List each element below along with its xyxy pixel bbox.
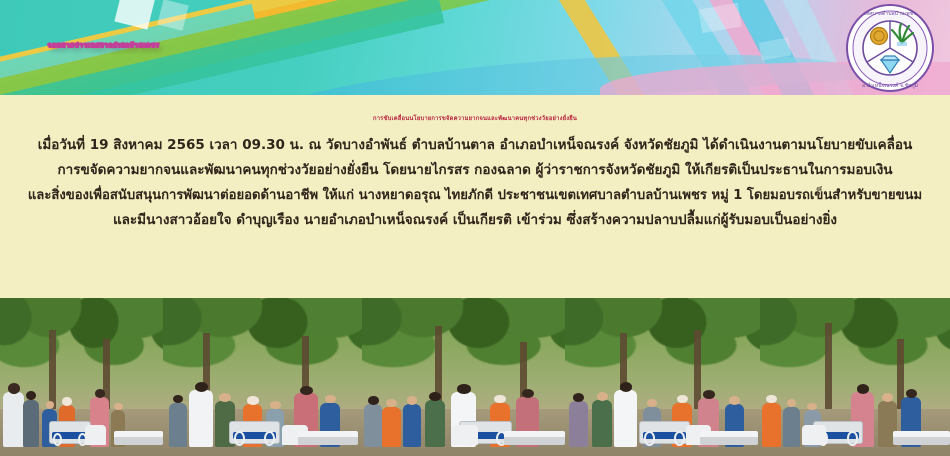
person [169, 403, 187, 447]
crowd [362, 371, 565, 447]
plastic-chair [802, 425, 827, 445]
crowd [760, 371, 950, 447]
photo-2 [163, 298, 362, 456]
paragraph-line-3: และสิ่งของเพื่อสนับสนุนการพัฒนาต่อยอดด้า… [16, 183, 934, 208]
food-cart [639, 421, 690, 444]
photo-5 [760, 298, 950, 456]
plastic-chair [451, 425, 477, 445]
banner-title: จดหมายข่าวเทศบาลตำบลบ้านเพชร [48, 14, 748, 78]
photo-strip [0, 298, 950, 456]
seal-top-label: เทศบาลตำบลบ้านเพชร [864, 10, 916, 17]
plastic-chair [85, 425, 106, 445]
decor-square-4 [759, 38, 792, 61]
person [364, 404, 382, 446]
paragraph-line-2: การขจัดความยากจนและพัฒนาคนทุกช่วงวัยอย่า… [16, 158, 934, 183]
paragraph-line-4: และมีนางสาวอ้อยใจ ดำบุญเรือง นายอำเภอบำเ… [16, 208, 934, 233]
person [614, 390, 637, 446]
person [403, 404, 421, 446]
cart-wheel [234, 431, 245, 446]
person [189, 390, 213, 446]
person [762, 403, 781, 447]
crowd [565, 371, 760, 447]
person [783, 407, 800, 446]
photo-4 [565, 298, 760, 456]
food-cart [229, 421, 281, 444]
municipality-seal-logo: เทศบาลตำบลบ้านเพชร อ.บำเหน็จณรงค์ จ.ชัยภ… [846, 4, 934, 92]
person [382, 407, 400, 446]
article-body: การขับเคลื่อนนโยบายการขจัดความยากจนและพั… [0, 95, 950, 298]
header-banner: จดหมายข่าวเทศบาลตำบลบ้านเพชร [0, 0, 950, 95]
table [114, 431, 163, 445]
person [23, 400, 39, 447]
table [298, 431, 358, 445]
person [592, 400, 612, 447]
cart-wheel [847, 431, 857, 445]
seal-bottom-label: อ.บำเหน็จณรงค์ จ.ชัยภูมิ [862, 81, 918, 89]
photo-1 [0, 298, 163, 456]
person [3, 392, 24, 447]
table [504, 431, 565, 445]
crowd [163, 371, 362, 447]
cart-wheel [644, 431, 655, 446]
cart-wheel [674, 431, 685, 446]
table [700, 431, 759, 445]
table [893, 431, 950, 445]
newsletter-page: จดหมายข่าวเทศบาลตำบลบ้านเพชร [0, 0, 950, 456]
crowd [0, 371, 163, 447]
article-paragraph: เมื่อวันที่ 19 สิงหาคม 2565 เวลา 09.30 น… [0, 123, 950, 233]
person [569, 401, 589, 446]
cart-wheel [53, 433, 62, 446]
article-headline: การขับเคลื่อนนโยบายการขจัดความยากจนและพั… [0, 95, 950, 123]
person [425, 400, 445, 447]
photo-3 [362, 298, 565, 456]
paragraph-line-1: เมื่อวันที่ 19 สิงหาคม 2565 เวลา 09.30 น… [16, 133, 934, 158]
